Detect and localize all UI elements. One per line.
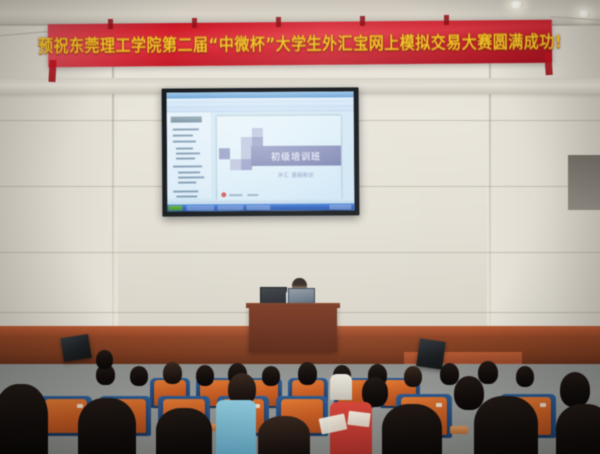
podium bbox=[249, 306, 337, 352]
audience-torso bbox=[216, 400, 256, 454]
taskbar-item[interactable] bbox=[186, 205, 214, 210]
audience-head bbox=[156, 408, 212, 454]
auditorium-photo: 预祝东莞理工学院第二届“中微杯”大学生外汇宝网上模拟交易大赛圆满成功! bbox=[0, 0, 600, 454]
wall-seam-3 bbox=[0, 252, 600, 253]
seat-number-tag bbox=[436, 403, 442, 407]
projection-screen: 初级培训班 外汇 基础知识 bbox=[167, 91, 355, 211]
audience-head bbox=[516, 366, 534, 387]
projection-screen-frame: 初级培训班 外汇 基础知识 bbox=[162, 87, 360, 216]
banner-strap-3 bbox=[276, 17, 281, 27]
slide-deco-block bbox=[252, 128, 263, 137]
outline-line bbox=[173, 140, 196, 142]
audience-torso bbox=[330, 374, 352, 400]
ppt-slide: 初级培训班 外汇 基础知识 bbox=[217, 115, 342, 200]
banner-strap-4 bbox=[360, 16, 365, 26]
wall-corner-left bbox=[112, 26, 114, 326]
audience-head bbox=[556, 404, 600, 454]
start-button[interactable] bbox=[168, 206, 182, 211]
audience-head bbox=[130, 366, 148, 386]
audience-head bbox=[78, 398, 136, 454]
outline-selected-item bbox=[171, 116, 202, 122]
congratulation-banner: 预祝东莞理工学院第二届“中微杯”大学生外汇宝网上模拟交易大赛圆满成功! bbox=[48, 20, 552, 67]
wall-corner-right bbox=[489, 26, 491, 326]
outline-line bbox=[178, 176, 204, 178]
slide-logo-icon bbox=[221, 192, 226, 197]
banner-tie-right bbox=[544, 53, 553, 75]
audience-head bbox=[196, 365, 214, 386]
audience-head bbox=[96, 350, 113, 369]
ceiling-light-1 bbox=[510, 1, 523, 9]
windows-taskbar bbox=[167, 203, 354, 211]
ceiling-light-2 bbox=[578, 10, 590, 18]
banner-strap-2 bbox=[192, 18, 197, 28]
audience-head bbox=[474, 396, 538, 454]
seat-number-tag bbox=[77, 404, 83, 408]
slide-deco-block bbox=[219, 148, 230, 159]
audience-head bbox=[478, 361, 498, 384]
taskbar-tray[interactable] bbox=[329, 204, 351, 209]
outline-line bbox=[178, 181, 196, 183]
doorway-recess bbox=[568, 155, 600, 210]
slide-subtitle: 外汇 基础知识 bbox=[253, 170, 339, 179]
outline-line bbox=[176, 195, 197, 197]
audience-head bbox=[560, 372, 590, 407]
outline-line bbox=[173, 128, 199, 130]
banner-strap-5 bbox=[444, 15, 449, 25]
audience-head bbox=[0, 384, 48, 454]
audience-head bbox=[262, 366, 280, 386]
banner-text: 预祝东莞理工学院第二届“中微杯”大学生外汇宝网上模拟交易大赛圆满成功! bbox=[48, 17, 552, 71]
slide-title: 初级培训班 bbox=[255, 147, 337, 164]
banner-tie-left bbox=[48, 60, 56, 82]
seat-number-tag bbox=[540, 403, 546, 407]
slide-footer bbox=[221, 192, 261, 197]
stage-speaker-left bbox=[60, 334, 91, 362]
slide-footer-line bbox=[247, 194, 258, 196]
outline-line bbox=[176, 152, 200, 154]
outline-line bbox=[173, 165, 202, 167]
taskbar-item[interactable] bbox=[246, 205, 270, 210]
left-wall bbox=[0, 26, 118, 326]
outline-line bbox=[173, 134, 193, 136]
banner-strap-1 bbox=[108, 19, 113, 29]
audience-head bbox=[404, 366, 422, 387]
audience-head bbox=[454, 376, 484, 410]
seat-armrest bbox=[450, 426, 468, 434]
stage-speaker-right bbox=[416, 338, 446, 369]
ppt-outline-pane bbox=[167, 112, 212, 198]
audience-head bbox=[258, 416, 310, 454]
handout-paper bbox=[347, 411, 371, 428]
outline-line bbox=[173, 190, 198, 192]
taskbar-item[interactable] bbox=[217, 205, 243, 210]
slide-deco-block bbox=[230, 159, 241, 170]
audience-head bbox=[382, 404, 442, 454]
slide-footer-line bbox=[229, 194, 242, 196]
outline-line bbox=[176, 157, 195, 159]
outline-line bbox=[176, 147, 193, 149]
audience-head bbox=[298, 362, 317, 385]
audience-head bbox=[163, 362, 182, 384]
outline-line bbox=[178, 171, 200, 173]
